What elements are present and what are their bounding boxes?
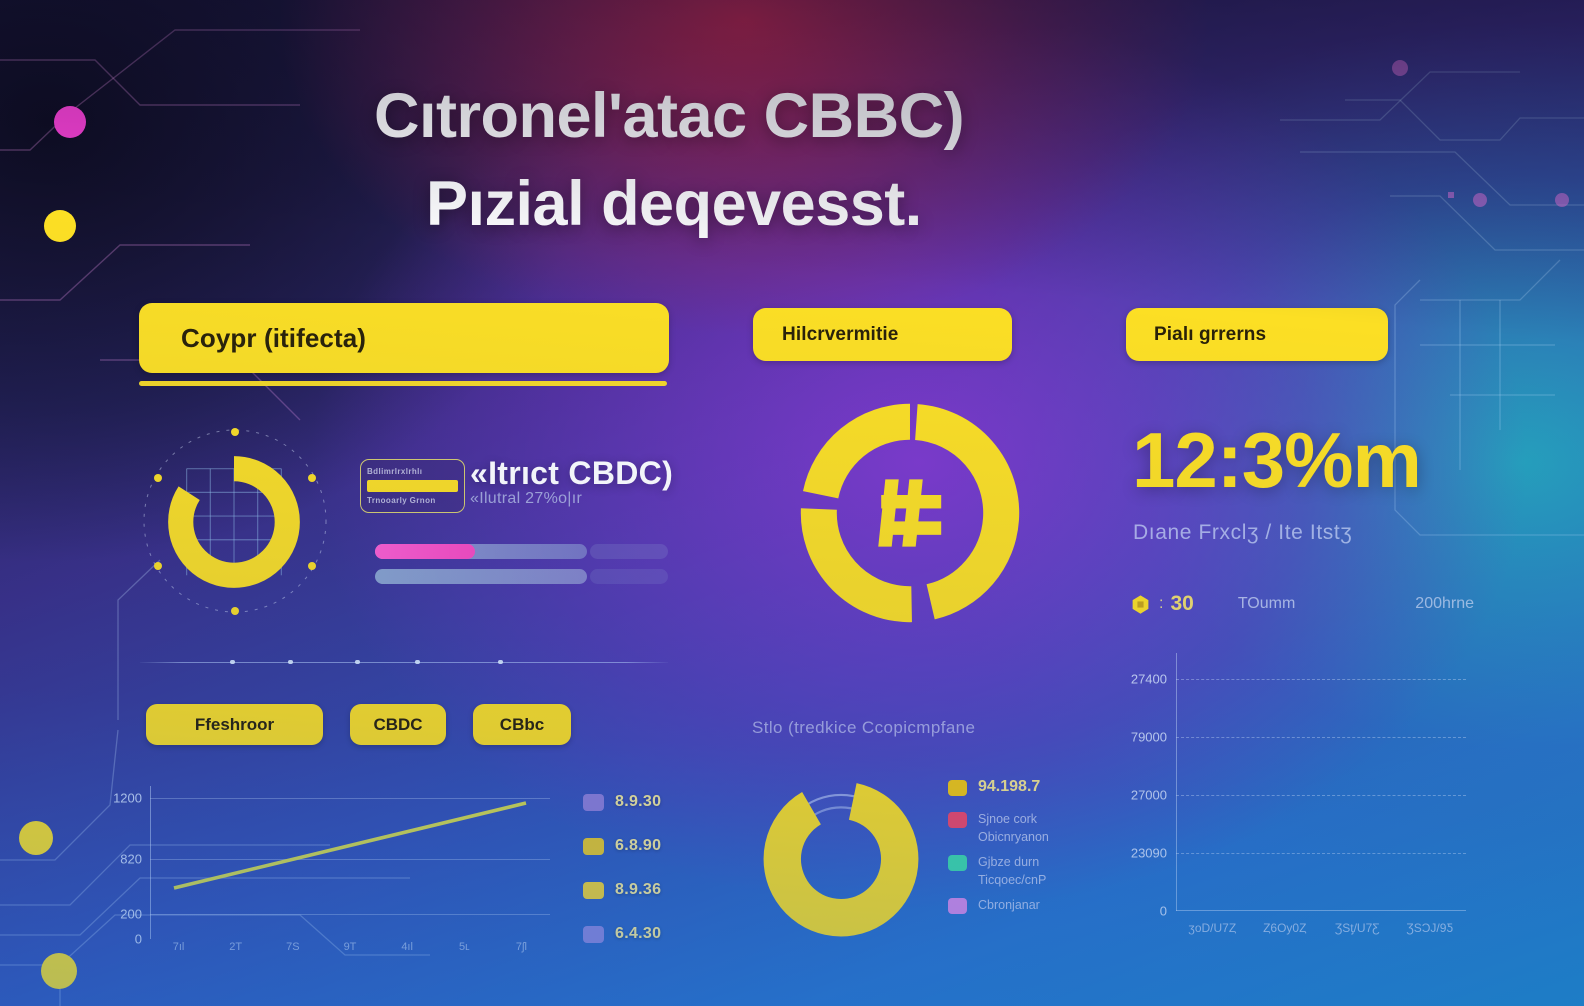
meta-separator: : (1159, 595, 1163, 613)
accent-dot-yellow (44, 210, 76, 242)
chart-x-tick: 4ıl (379, 941, 436, 961)
chart-y-tick: 27000 (1131, 788, 1167, 803)
accent-dot-yellow-2 (19, 821, 53, 855)
legend-swatch (948, 898, 967, 914)
legend-swatch (583, 794, 604, 811)
mini-status-card[interactable]: Bdlimrlrxlrhlı Trnooarly Grnon (360, 459, 465, 513)
legend-item[interactable]: Cbronjanar (948, 896, 1078, 914)
chart-y-tick: 23090 (1131, 846, 1167, 861)
section-header-right[interactable]: Pialı grrerns (1126, 308, 1388, 361)
chart-x-tick: 9T (321, 941, 378, 961)
dashboard-canvas: Cıtronelʹatac CBBC) Pızial deqevesst. Co… (0, 0, 1584, 1006)
middle-chart-caption: Stlo (tredkice Ccopicmpfane (752, 718, 975, 738)
chart-trend-line (150, 786, 550, 939)
middle-hash-ring-chart[interactable] (790, 393, 1030, 633)
legend-item[interactable]: Gjbze durn Ticqoec/cnP (948, 853, 1078, 889)
chart-x-tick: 5ʟ (436, 941, 493, 961)
section-divider (140, 662, 668, 663)
legend-label: Gjbze durn (978, 853, 1046, 871)
legend-label: 8.9.36 (615, 881, 661, 899)
legend-swatch (583, 926, 604, 943)
legend-item[interactable]: 8.9.36 (583, 868, 693, 912)
filter-chip-2[interactable]: CBDC (350, 704, 446, 745)
chart-x-tick: 7S (264, 941, 321, 961)
divider-node (415, 660, 420, 664)
chart-x-tick-labels: ʒoD/U7Ȥ Ȥ6Oy0Ȥ ƷSƫ/U7Ƹ ƷSƆJ/9Ƽ (1176, 913, 1466, 943)
legend-label: 6.4.30 (615, 925, 661, 943)
chart-y-tick: 0 (1160, 904, 1167, 919)
left-bar-chart[interactable]: 1200 820 200 0 7ıl 2T 7S 9T 4ıl 5ʟ 7ʃl (150, 786, 550, 961)
right-kpi-value: 12:3%m (1132, 415, 1421, 506)
chart-y-tick: 0 (135, 932, 142, 947)
meta-value: 30 (1170, 592, 1193, 616)
divider-node (288, 660, 293, 664)
chart-x-tick: ƷSƆJ/9Ƽ (1394, 913, 1467, 943)
progress-bar-primary-fill (375, 544, 475, 559)
legend-swatch (948, 812, 967, 828)
divider-node (355, 660, 360, 664)
accent-dot-magenta (54, 106, 86, 138)
page-title-line-1: Cıtronelʹatac CBBC) (374, 81, 964, 151)
meta-label-2: 200hrne (1415, 595, 1474, 613)
page-title: Cıtronelʹatac CBBC) Pızial deqevesst. (374, 72, 1274, 248)
progress-bar-primary[interactable] (375, 544, 587, 559)
chart-bars (1176, 653, 1466, 911)
chart-y-tick: 79000 (1131, 730, 1167, 745)
middle-donut-chart[interactable] (752, 770, 930, 948)
legend-label: 6.8.90 (615, 837, 661, 855)
divider-node (230, 660, 235, 664)
mini-card-bar (367, 480, 458, 492)
progress-bar-secondary-remainder (590, 569, 668, 584)
legend-label: Sjnoe cork (978, 810, 1049, 828)
legend-swatch (948, 855, 967, 871)
accent-dot-yellow-3 (41, 953, 77, 989)
legend-label: 94.198.7 (978, 778, 1040, 796)
legend-item[interactable]: 94.198.7 (948, 778, 1078, 796)
meta-label-1: TOumm (1238, 595, 1295, 613)
hash-icon (878, 479, 941, 546)
left-kpi-title: «Itrıct CBDC) (470, 455, 673, 492)
legend-sublabel: Obicnryanon (978, 828, 1049, 846)
filter-chip-1[interactable]: Ffeshroor (146, 704, 323, 745)
chart-x-tick-labels: 7ıl 2T 7S 9T 4ıl 5ʟ 7ʃl (150, 941, 550, 961)
chart-x-tick: 2T (207, 941, 264, 961)
mini-card-top-label: Bdlimrlrxlrhlı (367, 467, 458, 476)
chart-x-tick: 7ʃl (493, 941, 550, 961)
chart-y-tick: 27400 (1131, 672, 1167, 687)
chart-x-tick: ʒoD/U7Ȥ (1176, 913, 1249, 943)
right-kpi-meta-row: : 30 TOumm 200hrne (1130, 590, 1530, 618)
chart-y-tick: 820 (120, 852, 142, 867)
chart-x-tick: Ȥ6Oy0Ȥ (1249, 913, 1322, 943)
legend-item[interactable]: 6.8.90 (583, 824, 693, 868)
chart-y-tick: 1200 (113, 791, 142, 806)
legend-item[interactable]: 6.4.30 (583, 912, 693, 956)
page-title-line-2: Pızial deqevesst. (374, 160, 1274, 248)
left-kpi-subtitle: «Ilutral 27%o|ır (470, 490, 582, 508)
legend-swatch (583, 882, 604, 899)
coin-icon (1130, 594, 1151, 615)
section-header-middle[interactable]: Hilcrvermitie (753, 308, 1012, 361)
mini-card-bottom-label: Trnooarly Grnon (367, 496, 458, 505)
right-bar-chart[interactable]: 27400 79000 27000 23090 0 ʒoD/U7Ȥ Ȥ6Oy0Ȥ… (1176, 653, 1466, 943)
legend-item[interactable]: Sjnoe cork Obicnryanon (948, 810, 1078, 846)
progress-bar-secondary[interactable] (375, 569, 587, 584)
divider-node (498, 660, 503, 664)
chart-y-tick: 200 (120, 907, 142, 922)
section-header-left[interactable]: Coypr (itifecta) (139, 303, 669, 373)
legend-label: Cbronjanar (978, 896, 1040, 914)
legend-label: 8.9.30 (615, 793, 661, 811)
chart-x-tick: 7ıl (150, 941, 207, 961)
middle-chart-legend: 94.198.7 Sjnoe cork Obicnryanon Gjbze du… (948, 778, 1078, 921)
filter-chip-group: Ffeshroor CBDC CBbc (146, 704, 571, 745)
legend-item[interactable]: 8.9.30 (583, 780, 693, 824)
section-header-left-underline (139, 381, 667, 386)
progress-bar-primary-remainder (590, 544, 668, 559)
left-donut-chart[interactable] (160, 448, 308, 596)
legend-sublabel: Ticqoec/cnP (978, 871, 1046, 889)
chart-x-tick: ƷSƫ/U7Ƹ (1321, 913, 1394, 943)
left-chart-legend: 8.9.30 6.8.90 8.9.36 6.4.30 (583, 780, 693, 956)
legend-swatch (583, 838, 604, 855)
legend-swatch (948, 780, 967, 796)
right-kpi-subtitle: Dıane Frxclʒ / Ite Itstʒ (1133, 521, 1352, 545)
filter-chip-3[interactable]: CBbc (473, 704, 571, 745)
